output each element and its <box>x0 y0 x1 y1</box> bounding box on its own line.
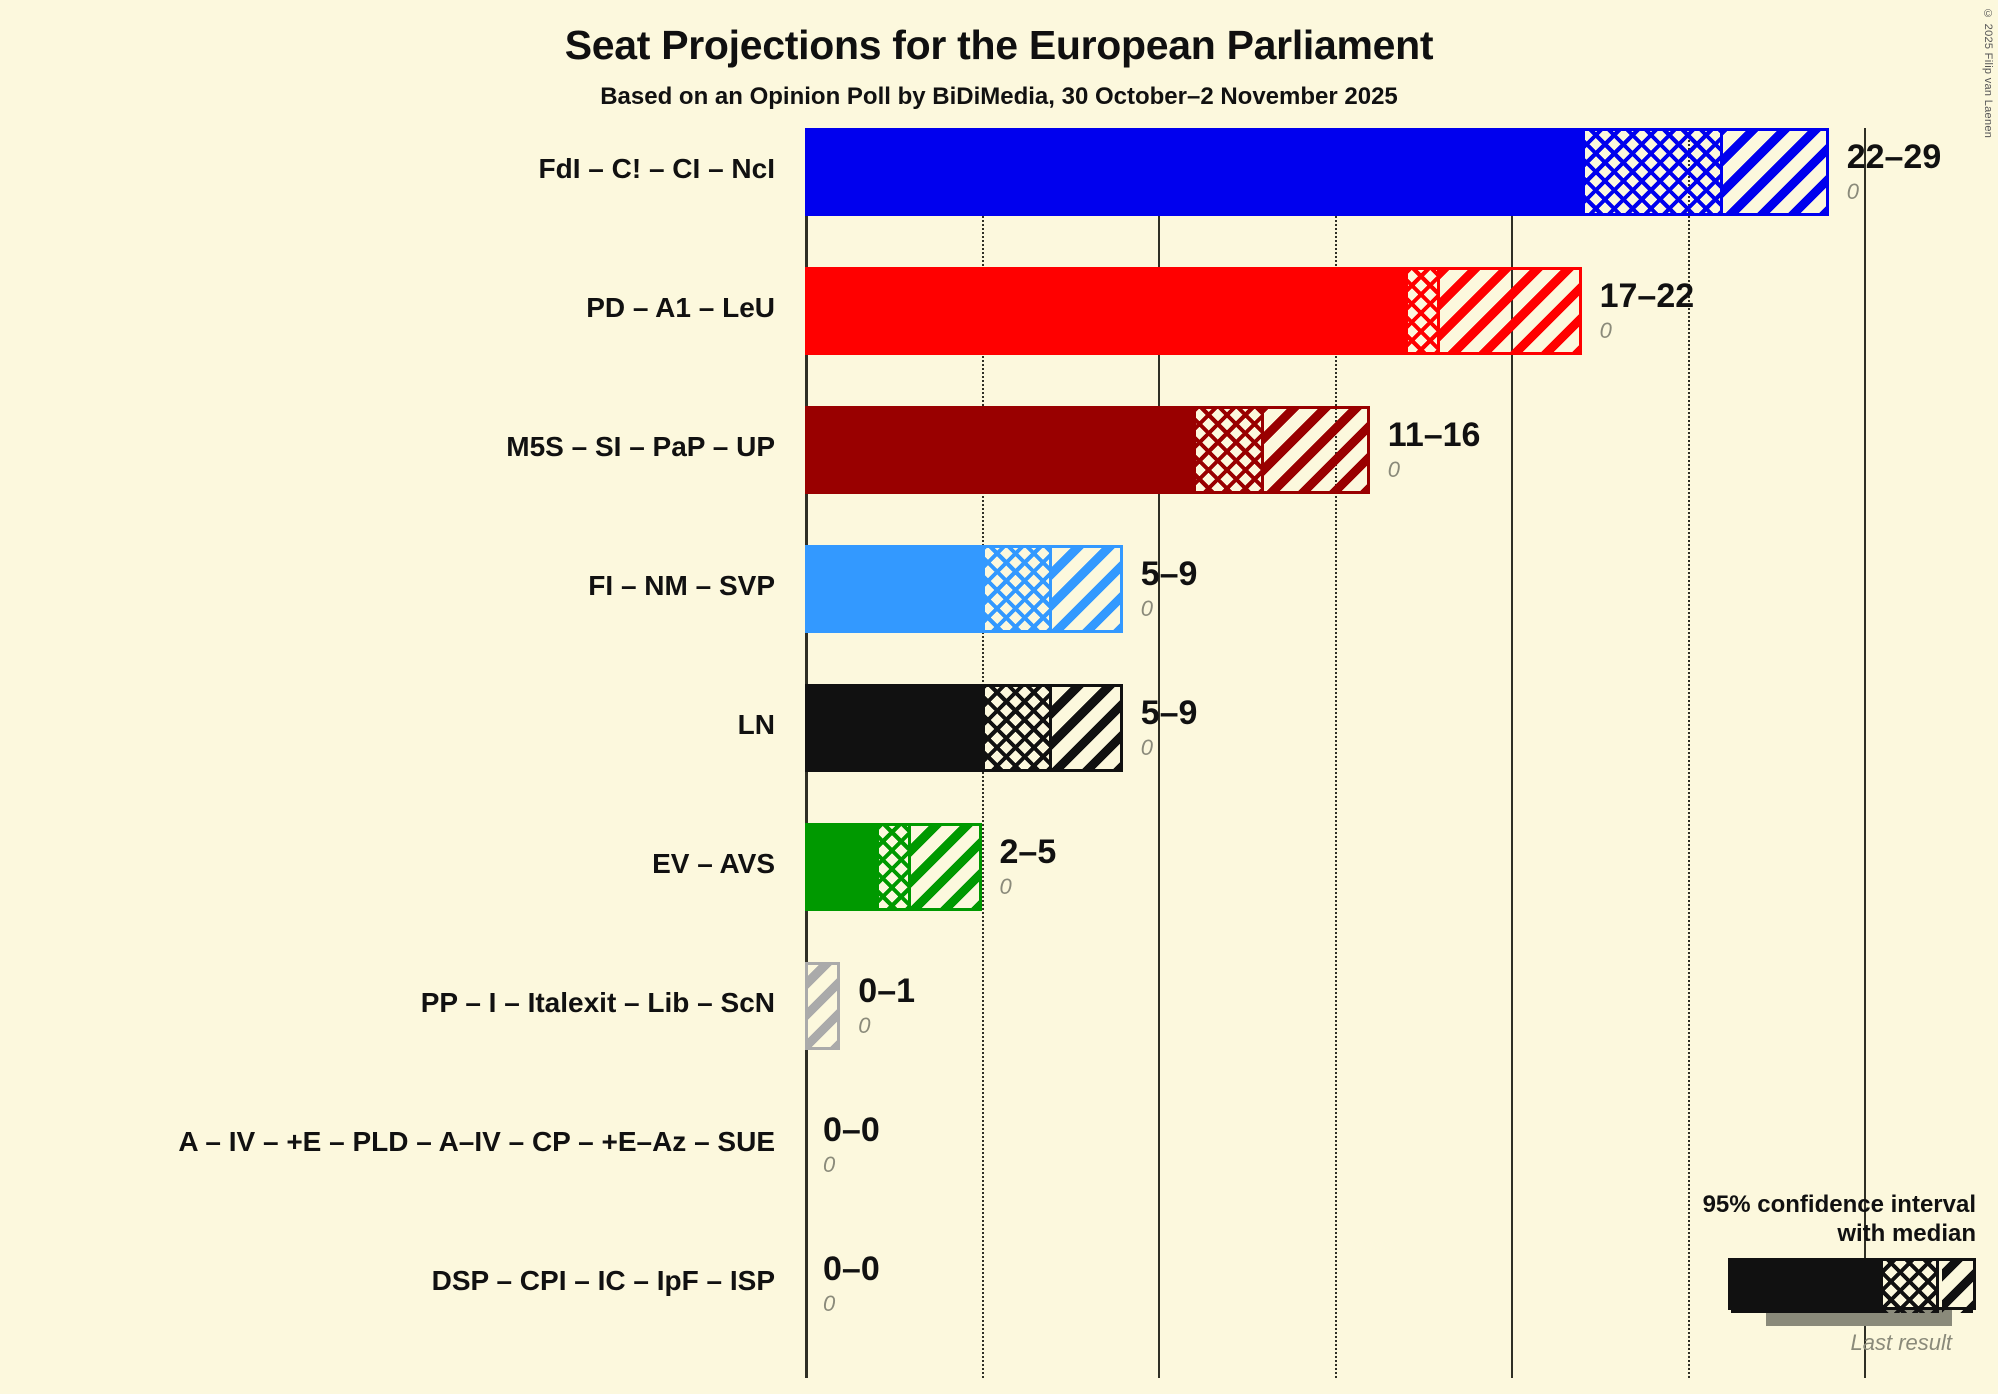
bar-row-label: DSP – CPI – IC – IpF – ISP <box>432 1265 775 1297</box>
bar-last-result: 0 <box>823 1154 880 1176</box>
bar-value-group: 17–220 <box>1600 279 1695 342</box>
bar-row-label: FI – NM – SVP <box>588 570 775 602</box>
bar-last-result: 0 <box>1388 459 1481 481</box>
legend-last-result-label: Last result <box>1646 1330 1952 1356</box>
legend-line-1: 95% confidence interval <box>1646 1191 1976 1219</box>
bar-last-result: 0 <box>858 1015 915 1037</box>
bar-value-range: 0–0 <box>823 1113 880 1147</box>
bar-value-range: 0–1 <box>858 974 915 1008</box>
bar-segment-crosshatch <box>982 545 1053 633</box>
bar-segment-solid <box>805 406 1196 494</box>
legend-segment-solid <box>1731 1261 1883 1313</box>
confidence-interval-bar[interactable] <box>805 128 1829 216</box>
bar-row[interactable]: M5S – SI – PaP – UP11–160 <box>805 406 1985 494</box>
bar-segment-solid <box>805 823 879 911</box>
legend-segment-diagonal <box>1942 1261 1973 1313</box>
bar-last-result: 0 <box>1000 876 1057 898</box>
chart-legend: 95% confidence interval with median Last… <box>1646 1191 1976 1356</box>
bar-value-range: 22–29 <box>1847 140 1942 174</box>
bar-row[interactable]: FI – NM – SVP5–90 <box>805 545 1985 633</box>
bar-segment-crosshatch <box>1405 267 1440 355</box>
confidence-interval-bar[interactable] <box>805 545 1123 633</box>
bar-value-group: 5–90 <box>1141 557 1198 620</box>
bar-last-result: 0 <box>823 1293 880 1315</box>
chart-subtitle: Based on an Opinion Poll by BiDiMedia, 3… <box>0 83 1998 111</box>
bar-value-range: 2–5 <box>1000 835 1057 869</box>
bar-row-label: FdI – C! – CI – NcI <box>539 153 776 185</box>
bar-segment-diagonal <box>1264 406 1370 494</box>
bar-segment-diagonal <box>1052 684 1123 772</box>
bar-row-label: LN <box>738 709 775 741</box>
bar-row[interactable]: A – IV – +E – PLD – A–IV – CP – +E–Az – … <box>805 1101 1985 1189</box>
bar-segment-crosshatch <box>1582 128 1723 216</box>
bar-row-label: M5S – SI – PaP – UP <box>506 431 775 463</box>
legend-sample-bar <box>1728 1258 1976 1310</box>
confidence-interval-bar[interactable] <box>805 823 982 911</box>
bar-value-range: 0–0 <box>823 1252 880 1286</box>
bar-segment-crosshatch <box>982 684 1053 772</box>
bar-segment-diagonal <box>911 823 982 911</box>
bar-segment-solid <box>805 128 1585 216</box>
legend-line-2: with median <box>1646 1220 1976 1248</box>
bar-row[interactable]: PD – A1 – LeU17–220 <box>805 267 1985 355</box>
bar-segment-crosshatch <box>1193 406 1264 494</box>
bar-segment-solid <box>805 267 1408 355</box>
bar-row-label: PP – I – Italexit – Lib – ScN <box>421 987 775 1019</box>
bar-value-group: 22–290 <box>1847 140 1942 203</box>
bar-value-group: 11–160 <box>1388 418 1481 481</box>
bar-row[interactable]: FdI – C! – CI – NcI22–290 <box>805 128 1985 216</box>
bar-value-group: 0–00 <box>823 1113 880 1176</box>
bar-row-label: EV – AVS <box>652 848 775 880</box>
chart-title: Seat Projections for the European Parlia… <box>0 22 1998 69</box>
confidence-interval-bar[interactable] <box>805 406 1370 494</box>
bar-segment-diagonal <box>805 962 840 1050</box>
bar-row-label: A – IV – +E – PLD – A–IV – CP – +E–Az – … <box>178 1126 775 1158</box>
bar-row-label: PD – A1 – LeU <box>586 292 775 324</box>
bar-value-group: 5–90 <box>1141 696 1198 759</box>
confidence-interval-bar[interactable] <box>805 684 1123 772</box>
legend-segment-crosshatch <box>1883 1261 1939 1313</box>
bar-value-group: 2–50 <box>1000 835 1057 898</box>
bar-value-range: 17–22 <box>1600 279 1695 313</box>
bar-segment-diagonal <box>1052 545 1123 633</box>
bar-row[interactable]: EV – AVS2–50 <box>805 823 1985 911</box>
bar-segment-crosshatch <box>876 823 911 911</box>
bar-value-range: 5–9 <box>1141 557 1198 591</box>
bar-last-result: 0 <box>1600 320 1695 342</box>
bar-value-group: 0–00 <box>823 1252 880 1315</box>
bar-segment-diagonal <box>1723 128 1829 216</box>
bar-segment-diagonal <box>1440 267 1581 355</box>
bar-last-result: 0 <box>1847 181 1942 203</box>
bar-last-result: 0 <box>1141 598 1198 620</box>
confidence-interval-bar[interactable] <box>805 267 1582 355</box>
bar-segment-solid <box>805 545 985 633</box>
bar-value-range: 5–9 <box>1141 696 1198 730</box>
bar-value-range: 11–16 <box>1388 418 1481 452</box>
bar-row[interactable]: PP – I – Italexit – Lib – ScN0–10 <box>805 962 1985 1050</box>
bar-row[interactable]: LN5–90 <box>805 684 1985 772</box>
confidence-interval-bar[interactable] <box>805 962 840 1050</box>
bar-segment-solid <box>805 684 985 772</box>
copyright-notice: © 2025 Filip van Laenen <box>1982 8 1994 138</box>
bar-last-result: 0 <box>1141 737 1198 759</box>
bar-value-group: 0–10 <box>858 974 915 1037</box>
